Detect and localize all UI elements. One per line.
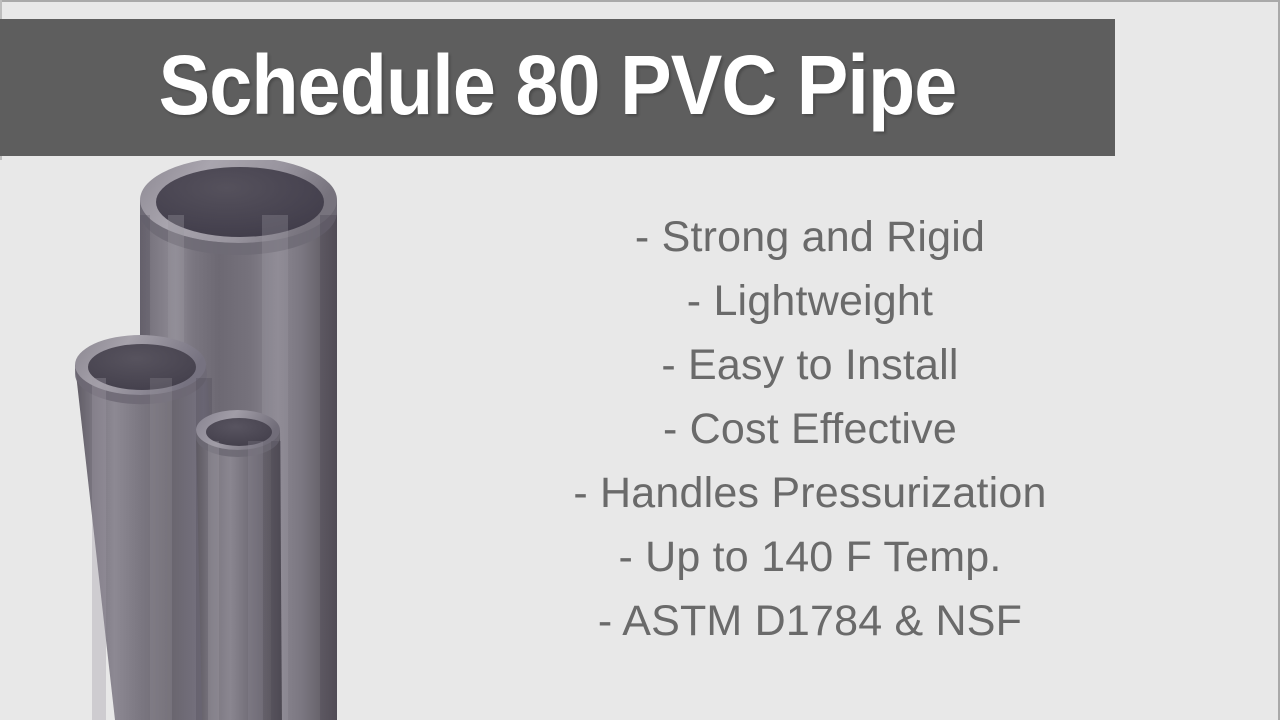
feature-item: - Cost Effective — [520, 397, 1100, 461]
feature-item: - Easy to Install — [520, 333, 1100, 397]
slide-canvas: Schedule 80 PVC Pipe — [0, 0, 1280, 720]
feature-item: - Handles Pressurization — [520, 461, 1100, 525]
feature-item: - Lightweight — [520, 269, 1100, 333]
feature-item: - ASTM D1784 & NSF — [520, 589, 1100, 653]
pvc-pipes-photo — [0, 160, 420, 720]
feature-item: - Strong and Rigid — [520, 205, 1100, 269]
frame-top-border — [0, 0, 1280, 2]
page-title: Schedule 80 PVC Pipe — [159, 43, 957, 133]
feature-item: - Up to 140 F Temp. — [520, 525, 1100, 589]
feature-list: - Strong and Rigid - Lightweight - Easy … — [520, 205, 1100, 653]
small-pipe — [196, 410, 282, 720]
title-bar: Schedule 80 PVC Pipe — [0, 19, 1115, 156]
